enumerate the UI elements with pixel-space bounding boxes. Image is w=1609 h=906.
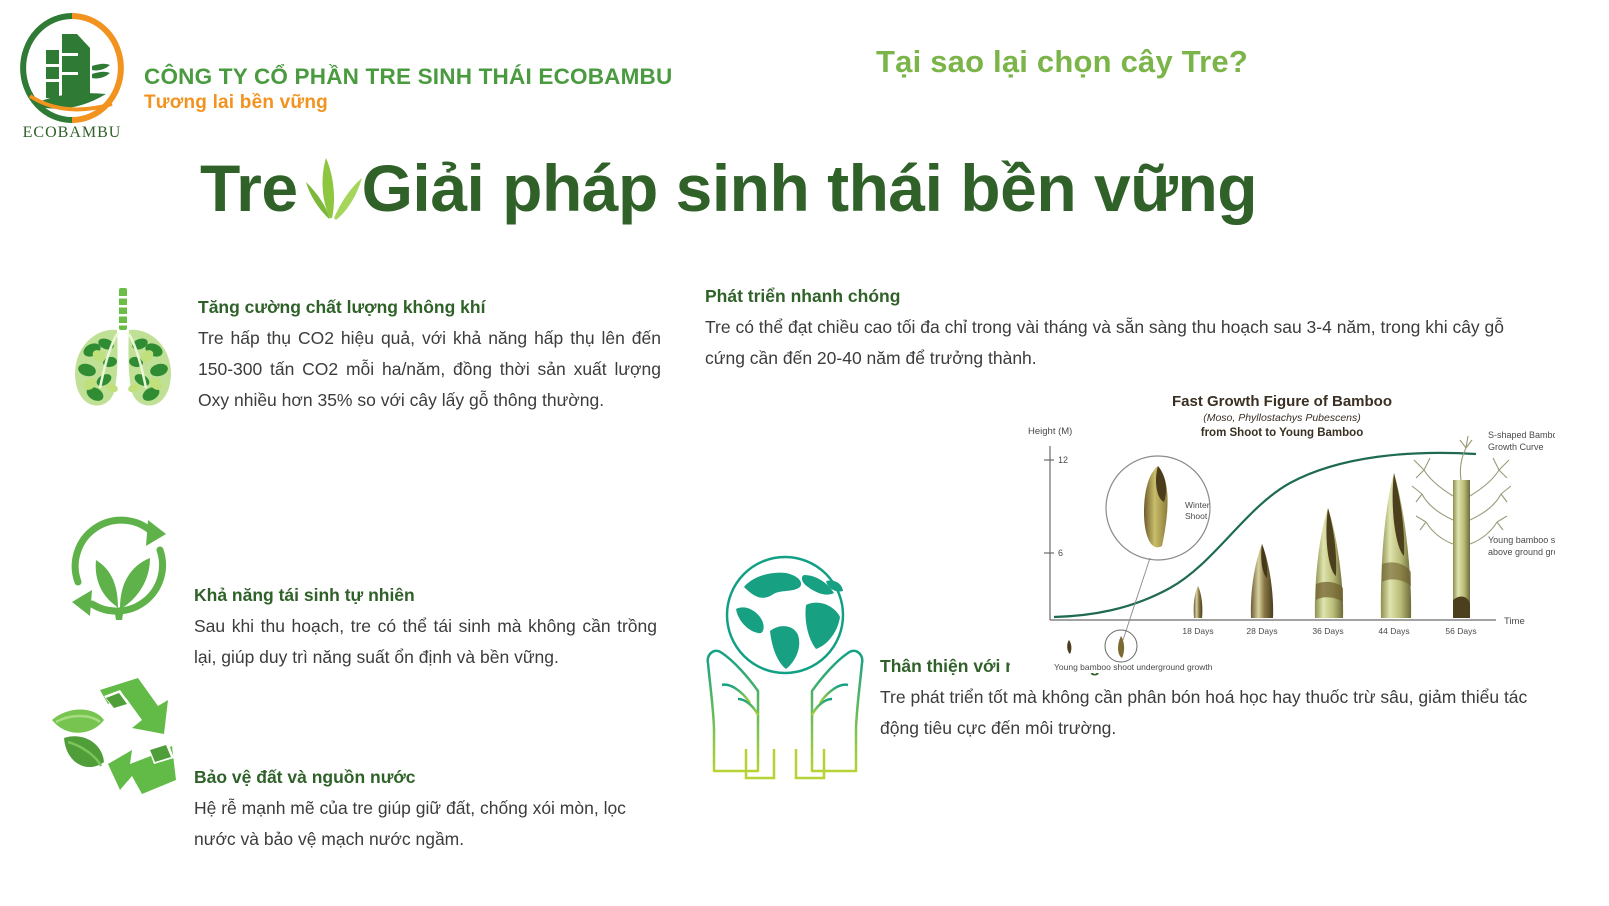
chart-ytick-12: 12 [1058,455,1068,465]
lungs-leaves-icon [60,284,186,419]
company-slogan: Tương lai bền vững [144,92,672,115]
feature-body: Tre phát triển tốt mà không cần phân bón… [880,682,1530,744]
poster-root: ECOBAMBU CÔNG TY CỔ PHẦN TRE SINH THÁI E… [0,0,1609,906]
feature-title: Bảo vệ đất và nguồn nước [194,766,661,790]
chart-xtick: 56 Days [1445,626,1476,636]
feature-fast-growth-text: Phát triển nhanh chóng Tre có thể đạt ch… [705,285,1545,374]
chart-annotation-winter-shoot-line1: Winter [1185,500,1210,510]
chart-annotation-curve-line2: Growth Curve [1488,442,1544,452]
recycle-sprout-icon [56,504,182,635]
page-title: Tre Giải pháp sinh thái bền vững [200,152,1257,225]
feature-body: Hệ rễ mạnh mẽ của tre giúp giữ đất, chốn… [194,793,661,855]
header-question: Tại sao lại chọn cây Tre? [876,44,1248,80]
feature-natural-regeneration: Khả năng tái sinh tự nhiên Sau khi thu h… [38,476,678,673]
chart-y-axis-label: Height (M) [1028,426,1072,437]
feature-soil-water-protection: Bảo vệ đất và nguồn nước Hệ rễ mạnh mẽ c… [38,658,678,855]
chart-annotation-winter-shoot-line2: Shoot [1185,511,1208,521]
feature-air-quality-text: Tăng cường chất lượng không khí Tre hấp … [186,278,661,416]
bamboo-growth-chart: Fast Growth Figure of Bamboo (Moso, Phyl… [1010,388,1555,673]
chart-xtick: 44 Days [1378,626,1409,636]
logo-wordmark: ECOBAMBU [14,124,130,142]
bamboo-leaf-icon [300,152,366,224]
feature-air-quality: Tăng cường chất lượng không khí Tre hấp … [38,278,678,419]
chart-subtitle: (Moso, Phyllostachys Pubescens) [1203,412,1361,424]
chart-xtick: 36 Days [1312,626,1343,636]
brand-block: ECOBAMBU CÔNG TY CỔ PHẦN TRE SINH THÁI E… [14,8,672,140]
ecobambu-logo: ECOBAMBU [14,8,130,140]
company-name: CÔNG TY CỔ PHẦN TRE SINH THÁI ECOBAMBU [144,63,672,90]
chart-annotation-aboveground-line1: Young bamboo shoot [1488,535,1555,545]
feature-title: Phát triển nhanh chóng [705,285,1545,309]
chart-title: Fast Growth Figure of Bamboo [1172,393,1392,410]
feature-fast-growth: Phát triển nhanh chóng Tre có thể đạt ch… [705,285,1545,374]
page-title-word-2: Giải pháp sinh thái bền vững [362,152,1258,225]
feature-body: Tre hấp thụ CO2 hiệu quả, với khả năng h… [198,323,661,416]
feature-soil-water-protection-text: Bảo vệ đất và nguồn nước Hệ rễ mạnh mẽ c… [186,658,661,855]
chart-stage-36-days: 36 Days [1312,508,1343,636]
chart-xtick: 18 Days [1182,626,1213,636]
chart-subtitle-2: from Shoot to Young Bamboo [1201,427,1363,439]
feature-title: Tăng cường chất lượng không khí [198,296,661,320]
chart-stage-44-days: 44 Days [1378,473,1411,636]
chart-annotation-aboveground-line2: above ground growth [1488,547,1555,557]
chart-annotation-curve-line1: S-shaped Bamboo [1488,430,1555,440]
feature-body: Tre có thể đạt chiều cao tối đa chỉ tron… [705,312,1545,374]
chart-x-axis-label: Time [1504,616,1525,627]
recycle-leaves-icon [46,672,186,807]
feature-title: Khả năng tái sinh tự nhiên [194,584,657,608]
page-title-word-1: Tre [200,152,298,225]
chart-stage-28-days: 28 Days [1246,544,1277,636]
feature-natural-regeneration-text: Khả năng tái sinh tự nhiên Sau khi thu h… [182,476,657,673]
chart-xtick: 28 Days [1246,626,1277,636]
globe-in-hands-icon [700,535,870,785]
logo-mark-icon [14,8,130,140]
brand-text-block: CÔNG TY CỔ PHẦN TRE SINH THÁI ECOBAMBU T… [144,33,672,115]
chart-ytick-6: 6 [1058,548,1063,558]
chart-stage-18-days: 18 Days [1182,586,1213,636]
chart-annotation-underground: Young bamboo shoot underground growth [1054,662,1213,672]
